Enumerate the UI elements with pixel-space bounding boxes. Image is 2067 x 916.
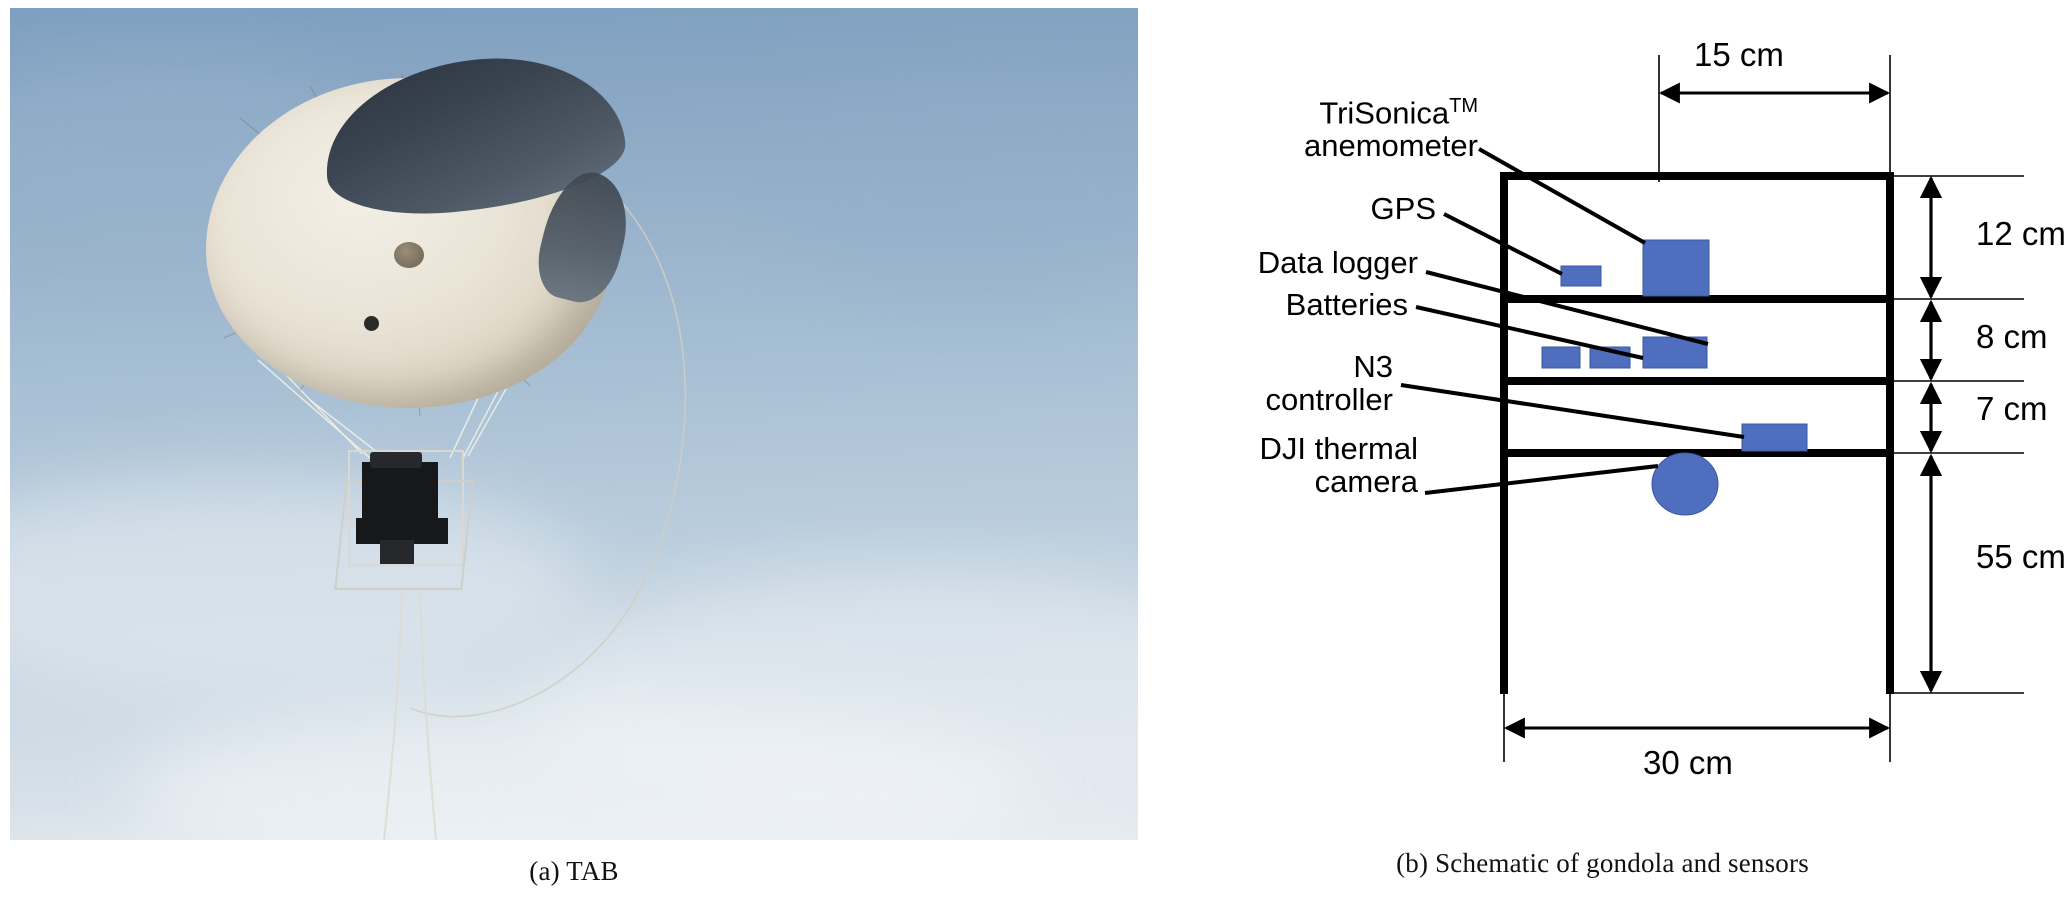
envelope-hub — [394, 242, 424, 268]
anemometer-module — [1643, 240, 1709, 296]
trademark-symbol: TM — [1449, 95, 1478, 117]
label-n3-controller: N3controller — [998, 350, 1393, 416]
n3-controller-module — [1742, 424, 1807, 451]
balloon-envelope — [206, 60, 636, 410]
thermal-camera-module — [1652, 453, 1718, 515]
dim-label-12cm: 12 cm — [1976, 215, 2066, 253]
envelope-vent — [364, 316, 379, 331]
label-data-logger: Data logger — [998, 246, 1418, 279]
frame-post-left — [1500, 172, 1508, 694]
shelf-top-plate — [1500, 172, 1894, 180]
label-dji-line2: camera — [1315, 464, 1418, 499]
label-trisonica-line2: anemometer — [1304, 128, 1478, 163]
dim-label-7cm: 7 cm — [1976, 390, 2048, 428]
dim-label-30cm: 30 cm — [1643, 744, 1733, 782]
gondola-instrument-block — [362, 462, 438, 520]
gondola-lower-module — [380, 540, 414, 564]
figure-two-panel: (a) TAB — [0, 0, 2067, 916]
caption-panel-a: (a) TAB — [10, 856, 1138, 887]
leader-thermal-camera — [1425, 466, 1658, 493]
label-dji-thermal-camera: DJI thermalcamera — [998, 432, 1418, 498]
gondola-schematic: TriSonicaTManemometer GPS Data logger Ba… — [1138, 0, 2067, 830]
label-trisonica-anemometer: TriSonicaTManemometer — [998, 96, 1478, 163]
dim-label-15cm: 15 cm — [1694, 36, 1784, 74]
tab-photograph — [10, 8, 1138, 840]
battery-1 — [1542, 347, 1580, 368]
dim-label-8cm: 8 cm — [1976, 318, 2048, 356]
frame-post-right — [1886, 172, 1894, 694]
dim-label-55cm: 55 cm — [1976, 538, 2066, 576]
leader-n3 — [1401, 385, 1744, 437]
label-dji-line1: DJI thermal — [1260, 431, 1418, 466]
panel-a-photo: (a) TAB — [10, 8, 1138, 840]
leader-batteries — [1416, 307, 1643, 358]
gondola-payload — [340, 440, 472, 588]
label-gps: GPS — [998, 192, 1436, 225]
shelf-2-plate — [1500, 377, 1894, 385]
label-batteries: Batteries — [998, 288, 1408, 321]
label-n3-line1: N3 — [1353, 349, 1393, 384]
label-n3-line2: controller — [1266, 382, 1394, 417]
gps-module — [1561, 266, 1601, 286]
label-trisonica-line1: TriSonica — [1319, 95, 1449, 130]
caption-panel-b: (b) Schematic of gondola and sensors — [1138, 848, 2067, 879]
gondola-camera — [370, 452, 422, 468]
panel-b-schematic: TriSonicaTManemometer GPS Data logger Ba… — [1138, 0, 2067, 916]
